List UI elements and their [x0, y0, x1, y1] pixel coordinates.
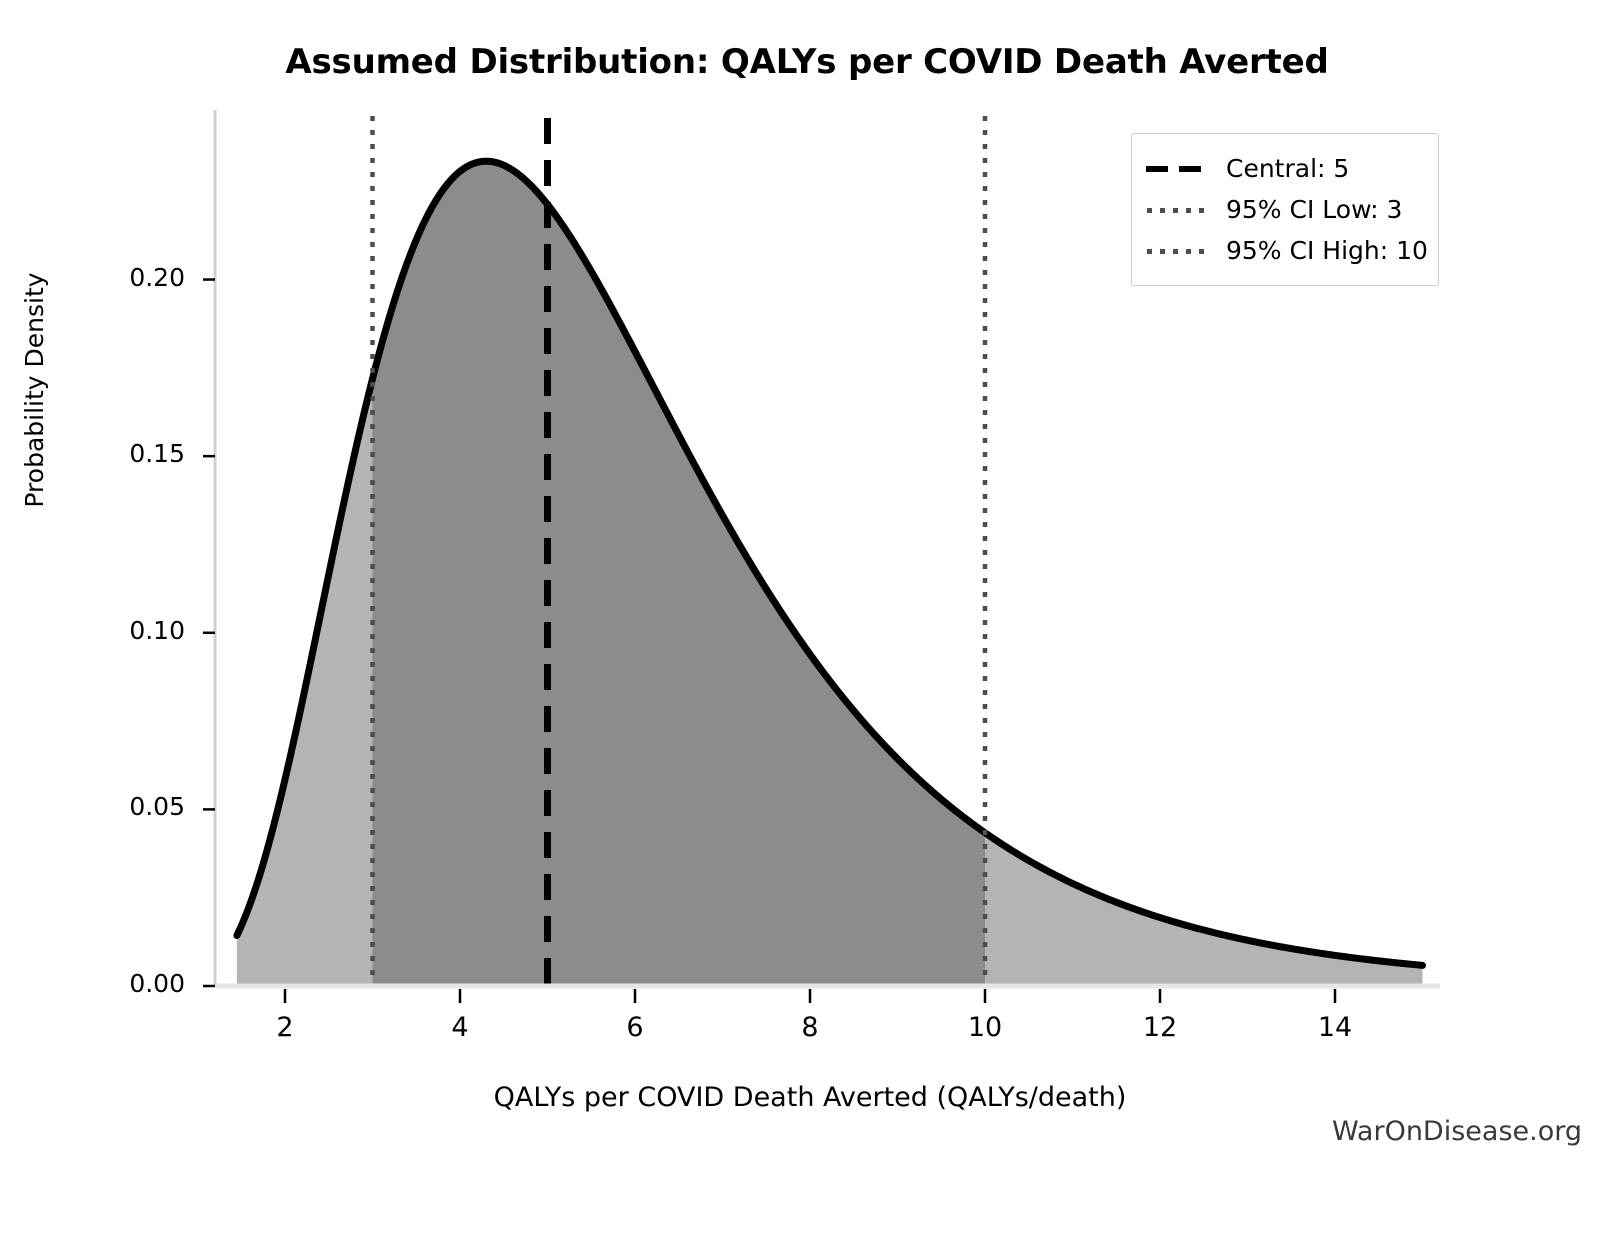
- legend[interactable]: Central: 5 95% CI Low: 3 95% CI High: 10: [1131, 133, 1439, 286]
- y-axis-tick-label: 0.05: [75, 792, 185, 821]
- x-axis-ticks: [285, 989, 1335, 1003]
- watermark: WarOnDisease.org: [1332, 1116, 1582, 1147]
- y-axis-tick-label: 0.00: [75, 969, 185, 998]
- x-axis-tick-label: 6: [595, 1012, 675, 1043]
- y-axis-tick-label: 0.20: [75, 263, 185, 292]
- legend-item-label: Central: 5: [1226, 154, 1349, 183]
- distribution-fill-inside-ci: [373, 161, 986, 986]
- x-axis-tick-label: 12: [1120, 1012, 1200, 1043]
- y-axis-tick-label: 0.10: [75, 616, 185, 645]
- x-axis-tick-label: 14: [1295, 1012, 1375, 1043]
- legend-item-label: 95% CI High: 10: [1226, 236, 1428, 265]
- legend-item-label: 95% CI Low: 3: [1226, 195, 1402, 224]
- x-axis-tick-label: 8: [770, 1012, 850, 1043]
- legend-item-ci-low[interactable]: 95% CI Low: 3: [1146, 189, 1426, 230]
- x-axis-tick-label: 2: [245, 1012, 325, 1043]
- y-axis-tick-label: 0.15: [75, 439, 185, 468]
- y-axis-ticks: [203, 280, 215, 986]
- x-axis-tick-label: 10: [945, 1012, 1025, 1043]
- legend-item-ci-high[interactable]: 95% CI High: 10: [1146, 230, 1426, 271]
- x-axis-tick-label: 4: [420, 1012, 500, 1043]
- legend-item-central[interactable]: Central: 5: [1146, 148, 1426, 189]
- chart-figure: Assumed Distribution: QALYs per COVID De…: [0, 0, 1614, 1234]
- dotted-line-icon: [1146, 241, 1208, 261]
- dashed-line-icon: [1146, 159, 1208, 179]
- dotted-line-icon: [1146, 200, 1208, 220]
